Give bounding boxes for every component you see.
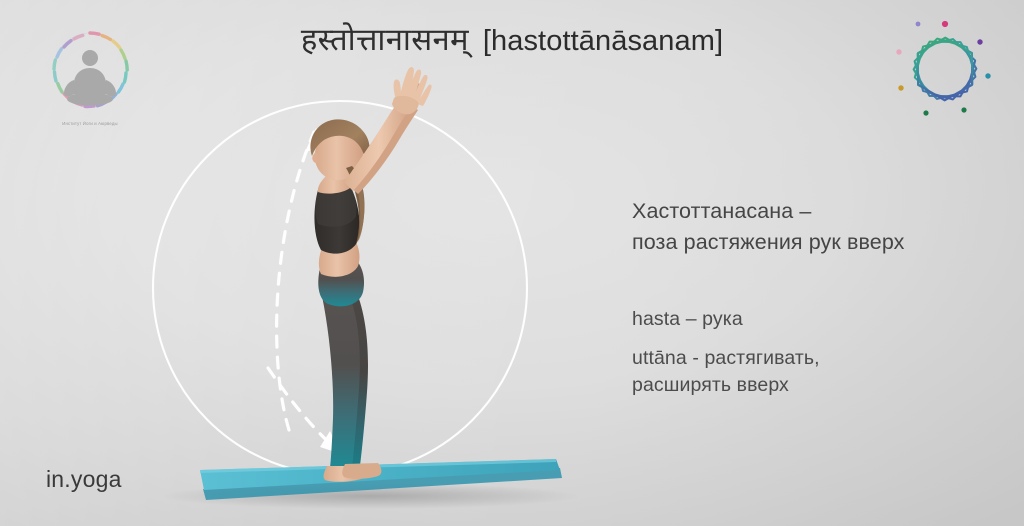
- geometric-mandala-logo: [892, 16, 998, 122]
- copy-spacer-2: [632, 333, 988, 345]
- gloss-uttana-line-2: расширять вверх: [632, 372, 988, 399]
- meditating-person-glyph: [64, 50, 116, 106]
- description-lead-line-1: Хастоттанасана –: [632, 196, 988, 227]
- logo-left-caption: Институт Йоги и Аюрведы: [36, 121, 144, 126]
- gloss-uttana-line-1: uttāna - растягивать,: [632, 345, 988, 372]
- gloss-hasta: hasta – рука: [632, 306, 988, 333]
- copy-spacer: [632, 258, 988, 306]
- logo-right[interactable]: [892, 16, 998, 122]
- logo-left[interactable]: Институт Йоги и Аюрведы: [36, 22, 144, 126]
- brand-wordmark[interactable]: in.yoga: [46, 466, 122, 493]
- description-block: Хастоттанасана – поза растяжения рук вве…: [632, 196, 988, 399]
- meditating-figure-logo: [36, 22, 144, 126]
- description-lead-line-2: поза растяжения рук вверх: [632, 227, 988, 258]
- infographic-canvas: हस्तोत्तानासनम् [hastottānāsanam]: [0, 0, 1024, 526]
